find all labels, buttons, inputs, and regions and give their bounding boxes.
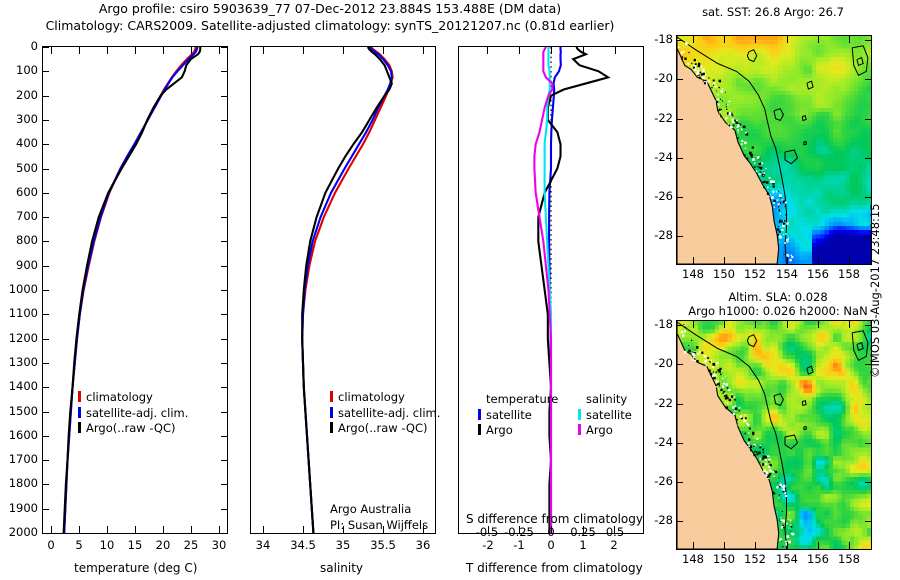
reef-speckle: [779, 477, 780, 478]
axis-tick: [724, 257, 725, 264]
reef-speckle: [714, 365, 715, 366]
legend-label: Argo: [486, 423, 513, 437]
axis-tick-label: 0: [547, 538, 554, 552]
axis-tick-label: -28: [654, 513, 673, 527]
reef-speckle: [739, 407, 741, 409]
axis-tick: [43, 314, 49, 315]
reef-speckle: [778, 497, 779, 498]
reef-speckle: [706, 365, 707, 366]
reef-speckle: [778, 191, 779, 192]
axis-tick: [43, 363, 49, 364]
reef-speckle: [789, 259, 791, 261]
reef-speckle: [717, 371, 718, 372]
reef-speckle: [767, 476, 769, 478]
reef-speckle: [697, 353, 699, 355]
axis-tick: [818, 321, 819, 328]
axis-tick: [787, 36, 788, 43]
reef-speckle: [688, 350, 691, 353]
reef-speckle: [782, 520, 785, 523]
axis-tick: [43, 96, 49, 97]
reef-speckle: [748, 446, 750, 448]
reef-speckle: [684, 351, 687, 354]
legend-item: Argo(..raw -QC): [78, 421, 188, 437]
legend-color-swatch: [78, 391, 81, 402]
reef-speckle: [760, 458, 762, 460]
axis-tick: [43, 193, 49, 194]
reef-speckle: [764, 181, 766, 183]
axis-tick: [755, 542, 756, 549]
reef-speckle: [779, 235, 781, 237]
legend-color-swatch: [330, 407, 333, 418]
reef-speckle: [735, 408, 738, 411]
reef-speckle: [713, 82, 715, 84]
reef-speckle: [691, 68, 692, 69]
axis-tick-label: 158: [838, 267, 860, 281]
reef-speckle: [726, 384, 728, 386]
axis-tick: [849, 257, 850, 264]
axis-tick: [43, 266, 49, 267]
axis-tick: [865, 79, 871, 80]
reef-speckle: [760, 445, 761, 446]
axis-tick: [551, 47, 552, 54]
reef-speckle: [781, 526, 784, 529]
reef-speckle: [724, 395, 726, 397]
reef-speckle: [785, 233, 786, 234]
reef-speckle: [713, 371, 714, 372]
sst-map-title: sat. SST: 26.8 Argo: 26.7: [668, 5, 878, 19]
credit-line-1: Argo Australia: [330, 502, 428, 518]
reef-speckle: [702, 70, 705, 73]
reef-speckle: [738, 137, 739, 138]
reef-speckle: [687, 63, 689, 65]
axis-tick: [693, 542, 694, 549]
reef-speckle: [777, 228, 780, 231]
axis-tick-label: -0.5: [476, 525, 498, 539]
reef-speckle: [727, 402, 729, 404]
axis-tick: [677, 158, 683, 159]
reef-speckle: [708, 365, 709, 366]
reef-speckle: [763, 175, 764, 176]
reef-speckle: [776, 191, 777, 192]
reef-speckle: [718, 104, 720, 106]
axis-tick-label: 400: [16, 136, 38, 150]
reef-speckle: [736, 120, 738, 122]
reef-speckle: [756, 438, 758, 440]
reef-speckle: [786, 214, 788, 216]
reef-speckle: [765, 474, 767, 476]
axis-tick: [107, 47, 108, 54]
axis-tick-label: 35: [336, 538, 351, 552]
axis-tick-label: 700: [16, 209, 38, 223]
reef-speckle: [766, 181, 769, 184]
reef-speckle: [773, 200, 775, 202]
legend-label: Argo(..raw -QC): [86, 421, 176, 435]
title-line-2: Climatology: CARS2009. Satellite-adjuste…: [0, 17, 660, 34]
reef-speckle: [781, 540, 782, 541]
axis-tick: [43, 47, 49, 48]
axis-tick-label: 1: [579, 538, 586, 552]
reef-speckle: [727, 104, 728, 105]
reef-speckle: [772, 492, 774, 494]
axis-tick: [79, 526, 80, 533]
page-title: Argo profile: csiro 5903639_77 07-Dec-20…: [0, 0, 660, 34]
reef-speckle: [739, 123, 740, 124]
reef-speckle: [779, 231, 781, 233]
axis-tick: [221, 533, 227, 534]
reef-speckle: [739, 410, 741, 412]
axis-tick: [865, 40, 871, 41]
reef-speckle: [784, 206, 785, 207]
axis-tick: [818, 36, 819, 43]
reef-speckle: [694, 68, 697, 71]
reef-speckle: [732, 121, 735, 124]
reef-speckle: [730, 101, 731, 102]
argo-australia-credit: Argo Australia PI: Susan Wijffels: [330, 502, 428, 533]
axis-tick: [865, 443, 871, 444]
reef-speckle: [729, 399, 732, 402]
axis-tick: [677, 40, 683, 41]
reef-speckle: [678, 46, 680, 48]
reef-speckle: [765, 459, 767, 461]
reef-speckle: [693, 356, 695, 358]
legend-item: satellite-adj. clim.: [330, 406, 440, 422]
reef-speckle: [696, 346, 699, 349]
reef-speckle: [731, 395, 733, 397]
axis-tick: [43, 387, 49, 388]
axis-tick-label: -2: [482, 538, 493, 552]
legend-label: satellite: [586, 408, 632, 422]
reef-speckle: [684, 330, 686, 332]
axis-tick: [677, 197, 683, 198]
axis-tick-label: -22: [654, 111, 673, 125]
legend-label: climatology: [86, 390, 153, 404]
axis-tick: [43, 120, 49, 121]
reef-speckle: [697, 70, 698, 71]
reef-speckle: [716, 380, 719, 383]
axis-tick: [163, 47, 164, 54]
axis-tick: [219, 47, 220, 54]
reef-speckle: [732, 406, 735, 409]
reef-speckle: [763, 469, 766, 472]
axis-tick: [724, 36, 725, 43]
legend-item: Argo(..raw -QC): [330, 421, 440, 437]
axis-tick-label: 900: [16, 258, 38, 272]
sst-map-plot: [677, 36, 871, 264]
reef-speckle: [753, 454, 755, 456]
axis-tick-label: 152: [744, 267, 766, 281]
reef-speckle: [728, 389, 730, 391]
reef-speckle: [707, 80, 709, 82]
reef-speckle: [722, 101, 723, 102]
axis-tick: [303, 526, 304, 533]
axis-tick-label: 1600: [9, 428, 38, 442]
axis-tick: [423, 47, 424, 54]
legend-color-swatch: [78, 422, 81, 433]
reef-speckle: [781, 220, 783, 222]
reef-speckle: [719, 385, 720, 386]
axis-tick: [43, 144, 49, 145]
reef-speckle: [719, 368, 721, 370]
legend-item: Argo: [478, 423, 558, 439]
reef-speckle: [762, 463, 764, 465]
axis-tick: [677, 119, 683, 120]
axis-tick: [724, 542, 725, 549]
reef-speckle: [777, 210, 778, 211]
reef-speckle: [768, 461, 770, 463]
s-difference-axis-label: S difference from climatology: [466, 512, 643, 526]
reef-speckle: [762, 449, 764, 451]
axis-tick: [221, 169, 227, 170]
axis-tick: [221, 436, 227, 437]
axis-tick: [51, 47, 52, 54]
axis-tick-label: -20: [654, 356, 673, 370]
reef-speckle: [711, 87, 712, 88]
axis-tick: [677, 404, 683, 405]
legend-group-header-temperature: temperature: [486, 392, 558, 408]
legend-item: climatology: [78, 390, 188, 406]
axis-tick: [787, 321, 788, 328]
legend-color-swatch: [330, 422, 333, 433]
axis-tick-label: 0.25: [570, 525, 596, 539]
reef-speckle: [778, 210, 780, 212]
reef-speckle: [786, 523, 788, 525]
axis-tick: [755, 321, 756, 328]
reef-speckle: [772, 181, 775, 184]
reef-speckle: [771, 471, 772, 472]
reef-speckle: [748, 432, 750, 434]
reef-speckle: [729, 101, 730, 102]
axis-tick: [43, 436, 49, 437]
reef-speckle: [698, 67, 700, 69]
axis-tick-label: 148: [682, 267, 704, 281]
temperature-legend: climatology satellite-adj. clim. Argo(..…: [78, 390, 188, 437]
axis-tick-label: -1: [513, 538, 524, 552]
reef-speckle: [685, 42, 688, 45]
reef-speckle: [779, 494, 780, 495]
axis-tick-label: 158: [838, 552, 860, 566]
reef-speckle: [771, 196, 774, 199]
reef-speckle: [779, 486, 781, 488]
reef-speckle: [779, 222, 781, 224]
sla-title-line-2: Argo h1000: 0.026 h2000: NaN: [668, 304, 888, 318]
axis-tick-label: 0: [47, 538, 54, 552]
reef-speckle: [692, 351, 693, 352]
axis-tick: [221, 290, 227, 291]
reef-speckle: [783, 527, 785, 529]
reef-speckle: [726, 109, 727, 110]
reef-speckle: [724, 392, 725, 393]
reef-speckle: [716, 90, 717, 91]
reef-speckle: [781, 229, 783, 231]
reef-speckle: [695, 360, 696, 361]
reef-speckle: [782, 225, 785, 228]
reef-speckle: [737, 138, 739, 140]
axis-tick-label: -24: [654, 150, 673, 164]
axis-tick-label: 300: [16, 112, 38, 126]
reef-speckle: [688, 345, 689, 346]
reef-speckle: [710, 360, 712, 362]
axis-tick-label: 152: [744, 552, 766, 566]
axis-tick: [583, 47, 584, 54]
axis-tick: [677, 443, 683, 444]
axis-tick-label: 1400: [9, 379, 38, 393]
reef-speckle: [760, 462, 761, 463]
reef-speckle: [714, 374, 716, 376]
reef-speckle: [691, 63, 692, 64]
reef-speckle: [781, 489, 782, 490]
axis-tick: [303, 47, 304, 54]
reef-speckle: [681, 58, 683, 60]
reef-speckle: [741, 140, 743, 142]
reef-speckle: [736, 121, 739, 124]
reef-speckle: [783, 489, 785, 491]
reef-speckle: [723, 382, 725, 384]
reef-speckle: [767, 187, 769, 189]
legend-item: climatology: [330, 390, 440, 406]
axis-tick: [135, 526, 136, 533]
temperature-profile-plot: [43, 47, 227, 533]
axis-tick-label: 154: [776, 552, 798, 566]
axis-tick-label: 10: [100, 538, 115, 552]
reef-speckle: [780, 213, 781, 214]
reef-speckle: [763, 172, 765, 174]
reef-speckle: [767, 456, 768, 457]
reef-speckle: [766, 471, 769, 474]
axis-tick: [51, 526, 52, 533]
reef-speckle: [719, 113, 720, 114]
axis-tick-label: -24: [654, 435, 673, 449]
reef-speckle: [722, 393, 723, 394]
axis-tick: [191, 526, 192, 533]
reef-speckle: [735, 405, 736, 406]
reef-speckle: [744, 142, 747, 145]
reef-speckle: [732, 118, 734, 120]
reef-speckle: [785, 492, 787, 494]
axis-tick-label: 34: [256, 538, 271, 552]
reef-speckle: [699, 351, 701, 353]
reef-speckle: [750, 154, 753, 157]
reef-speckle: [710, 373, 713, 376]
legend-item: satellite: [478, 408, 558, 424]
reef-speckle: [705, 361, 706, 362]
reef-speckle: [713, 85, 714, 86]
reef-speckle: [757, 156, 760, 159]
reef-speckle: [695, 63, 697, 65]
reef-speckle: [782, 511, 783, 512]
axis-tick: [383, 47, 384, 54]
reef-speckle: [730, 126, 733, 129]
axis-tick-label: -20: [654, 71, 673, 85]
reef-speckle: [741, 129, 743, 131]
reef-speckle: [700, 72, 702, 74]
reef-speckle: [776, 486, 778, 488]
reef-speckle: [744, 154, 746, 156]
axis-tick: [221, 484, 227, 485]
sla-map-plot: [677, 321, 871, 549]
reef-speckle: [789, 513, 790, 514]
axis-tick-label: -26: [654, 189, 673, 203]
reef-speckle: [790, 525, 791, 526]
reef-speckle: [747, 424, 749, 426]
reef-speckle: [725, 92, 726, 93]
reef-speckle: [733, 413, 735, 415]
reef-speckle: [782, 199, 783, 200]
reef-speckle: [754, 163, 755, 164]
reef-speckle: [690, 69, 691, 70]
axis-tick: [755, 257, 756, 264]
reef-speckle: [763, 171, 764, 172]
reef-speckle: [752, 158, 755, 161]
axis-tick: [43, 71, 49, 72]
reef-speckle: [715, 386, 716, 387]
reef-speckle: [712, 366, 714, 368]
reef-speckle: [759, 167, 761, 169]
axis-tick: [221, 314, 227, 315]
reef-speckle: [722, 88, 723, 89]
reef-speckle: [792, 533, 795, 536]
axis-tick: [693, 257, 694, 264]
reef-speckle: [770, 180, 773, 183]
reef-speckle: [682, 56, 684, 58]
sla-map-panel: [676, 320, 872, 550]
legend-item: Argo: [578, 423, 632, 439]
axis-tick-label: 1500: [9, 404, 38, 418]
reef-speckle: [791, 526, 793, 528]
axis-tick: [849, 36, 850, 43]
reef-speckle: [719, 80, 722, 83]
reef-speckle: [763, 186, 765, 188]
axis-tick: [221, 241, 227, 242]
axis-tick-label: 154: [776, 267, 798, 281]
reef-speckle: [743, 419, 746, 422]
reef-speckle: [778, 226, 779, 227]
reef-speckle: [768, 478, 769, 479]
reef-speckle: [769, 190, 770, 191]
axis-tick-label: 800: [16, 233, 38, 247]
temperature-profile-panel: [42, 46, 228, 534]
reef-speckle: [774, 207, 775, 208]
reef-speckle: [777, 234, 779, 236]
legend-label: climatology: [338, 390, 405, 404]
reef-speckle: [779, 242, 780, 243]
reef-speckle: [775, 471, 777, 473]
axis-tick: [818, 542, 819, 549]
reef-speckle: [765, 168, 766, 169]
axis-tick: [135, 47, 136, 54]
legend-color-swatch: [478, 424, 481, 435]
reef-speckle: [736, 419, 738, 421]
reef-speckle: [720, 116, 722, 118]
reef-speckle: [791, 256, 793, 258]
legend-label: Argo(..raw -QC): [338, 421, 428, 435]
reef-speckle: [763, 456, 766, 459]
reef-speckle: [731, 116, 732, 117]
reef-speckle: [716, 385, 718, 387]
reef-speckle: [788, 528, 789, 529]
reef-speckle: [694, 59, 696, 61]
copyright-label: ©IMOS 03-Aug-2017 23:48:15: [868, 198, 882, 378]
axis-tick: [43, 217, 49, 218]
reef-speckle: [700, 66, 702, 68]
reef-speckle: [745, 417, 747, 419]
axis-tick-label: 500: [16, 161, 38, 175]
reef-speckle: [783, 234, 784, 235]
reef-speckle: [756, 451, 758, 453]
axis-tick-label: 15: [128, 538, 143, 552]
axis-tick: [677, 482, 683, 483]
axis-tick-label: 5: [75, 538, 82, 552]
reef-speckle: [778, 206, 779, 207]
